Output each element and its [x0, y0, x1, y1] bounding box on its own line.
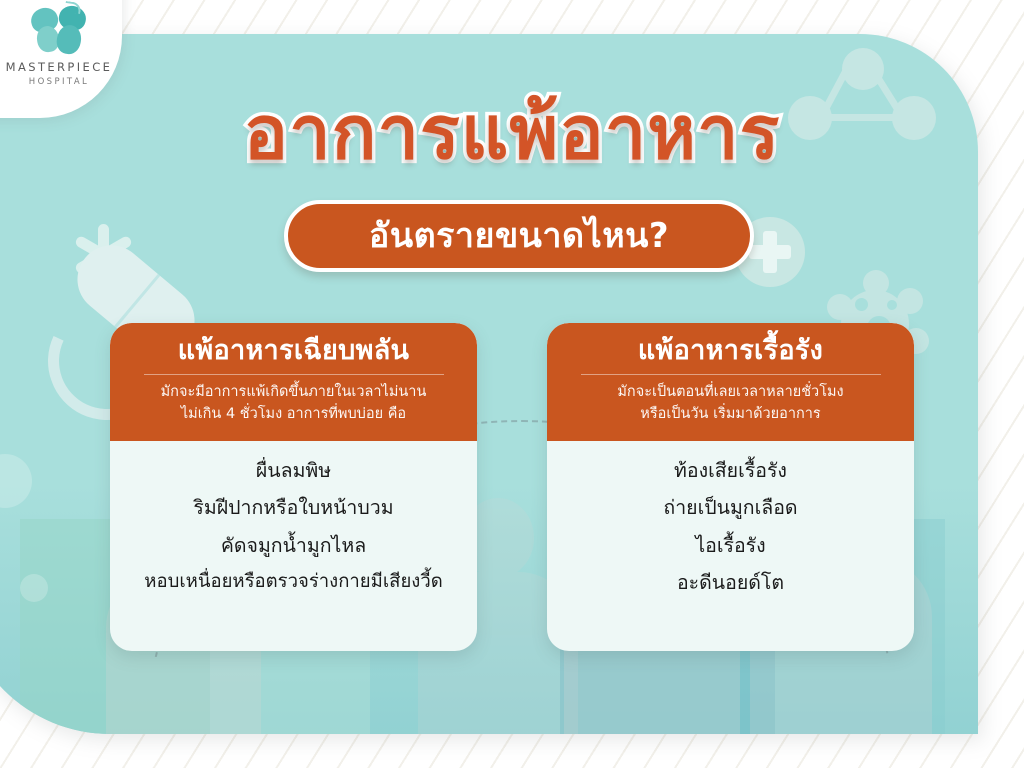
bubble-decoration	[20, 574, 48, 602]
list-item: คัดจมูกน้ำมูกไหล	[221, 532, 366, 560]
card-title: แพ้อาหารเรื้อรัง	[638, 335, 823, 366]
card-subtitle-line: มักจะเป็นตอนที่เลยเวลาหลายชั่วโมง	[617, 382, 843, 404]
card-subtitle-line: ไม่เกิน 4 ชั่วโมง อาการที่พบบ่อย คือ	[161, 404, 427, 426]
butterfly-icon	[29, 2, 89, 54]
card-subtitle: มักจะมีอาการแพ้เกิดขึ้นภายในเวลาไม่นาน ไ…	[161, 382, 427, 426]
card-acute-allergy: แพ้อาหารเฉียบพลัน มักจะมีอาการแพ้เกิดขึ้…	[110, 323, 477, 651]
card-chronic-allergy: แพ้อาหารเรื้อรัง มักจะเป็นตอนที่เลยเวลาห…	[547, 323, 914, 651]
brand-subtitle: HOSPITAL	[29, 77, 89, 87]
card-header: แพ้อาหารเฉียบพลัน มักจะมีอาการแพ้เกิดขึ้…	[110, 323, 477, 441]
subtitle-pill: อันตรายขนาดไหน?	[284, 200, 754, 272]
brand-name: MASTERPIECE	[6, 60, 113, 74]
card-divider	[581, 374, 881, 375]
card-title: แพ้อาหารเฉียบพลัน	[178, 335, 410, 366]
subtitle-text: อันตรายขนาดไหน?	[369, 219, 669, 253]
card-subtitle-line: มักจะมีอาการแพ้เกิดขึ้นภายในเวลาไม่นาน	[161, 382, 427, 404]
list-item: ผื่นลมพิษ	[256, 457, 331, 485]
list-item: ริมฝีปากหรือใบหน้าบวม	[193, 494, 393, 522]
card-subtitle: มักจะเป็นตอนที่เลยเวลาหลายชั่วโมง หรือเป…	[617, 382, 843, 426]
list-item: หอบเหนื่อยหรือตรวจร่างกายมีเสียงวี้ด	[144, 569, 442, 596]
infographic-poster: MASTERPIECE HOSPITAL อาการแพ้อาหาร อันตร…	[0, 0, 1024, 768]
list-item: ไอเรื้อรัง	[695, 532, 765, 560]
brand-logo-badge: MASTERPIECE HOSPITAL	[0, 0, 122, 118]
card-header: แพ้อาหารเรื้อรัง มักจะเป็นตอนที่เลยเวลาห…	[547, 323, 914, 441]
card-divider	[144, 374, 444, 375]
list-item: ถ่ายเป็นมูกเลือด	[663, 494, 797, 522]
list-item: อะดีนอยด์โต	[677, 569, 784, 597]
list-item: ท้องเสียเรื้อรัง	[674, 457, 787, 485]
card-body: ท้องเสียเรื้อรัง ถ่ายเป็นมูกเลือด ไอเรื้…	[547, 441, 914, 597]
card-body: ผื่นลมพิษ ริมฝีปากหรือใบหน้าบวม คัดจมูกน…	[110, 441, 477, 596]
page-title: อาการแพ้อาหาร	[0, 96, 1024, 170]
card-subtitle-line: หรือเป็นวัน เริ่มมาด้วยอาการ	[617, 404, 843, 426]
